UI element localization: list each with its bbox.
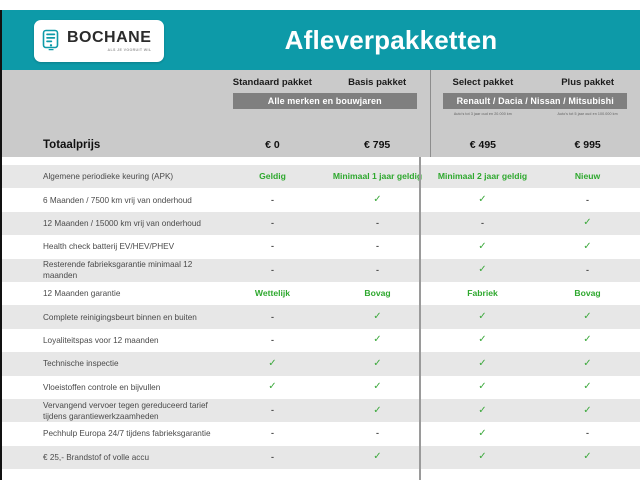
table-row: 6 Maanden / 7500 km vrij van onderhoud-✓… [2, 188, 640, 211]
row-group-all-brands: -- [220, 235, 430, 258]
cell-value: - [220, 429, 325, 438]
group-divider [419, 157, 421, 480]
cell-value: ✓ [325, 406, 430, 416]
cell-value: ✓ [325, 195, 430, 205]
cell-value: - [220, 196, 325, 205]
row-group-all-brands: -- [220, 212, 430, 235]
feature-table-body: Algemene periodieke keuring (APK)GeldigM… [0, 157, 640, 480]
feature-label-resterende-fabrieksgarantie-minimaal-12-maan: Resterende fabrieksgarantie minimaal 12 … [2, 259, 220, 281]
package-sub-plus: Auto's tot 5 jaar oud en 100.000 km [535, 112, 640, 116]
feature-rows: Algemene periodieke keuring (APK)GeldigM… [2, 165, 640, 469]
cell-value: - [325, 429, 430, 438]
feature-label-algemene-periodieke-keuring-apk: Algemene periodieke keuring (APK) [2, 171, 220, 182]
cell-value: ✓ [535, 452, 640, 462]
cell-value: Minimaal 1 jaar geldig [325, 172, 430, 181]
feature-label-25-brandstof-of-volle-accu: € 25,- Brandstof of volle accu [2, 452, 220, 463]
cell-value: ✓ [325, 452, 430, 462]
table-row: 12 Maanden garantieWettelijkBovagFabriek… [2, 282, 640, 305]
package-name-basis: Basis pakket [325, 77, 430, 88]
cell-value: ✓ [430, 312, 535, 322]
row-group-brands: -✓ [430, 212, 640, 235]
cell-value: Bovag [325, 289, 430, 298]
feature-label-loyaliteitspas-voor-12-maanden: Loyaliteitspas voor 12 maanden [2, 335, 220, 346]
row-group-brands: ✓- [430, 259, 640, 282]
table-row: Vloeistoffen controle en bijvullen✓✓✓✓ [2, 376, 640, 399]
total-group-brands: € 495 € 995 [430, 132, 640, 157]
row-group-all-brands: -- [220, 259, 430, 282]
cell-value: ✓ [535, 359, 640, 369]
cell-value: - [325, 266, 430, 275]
cell-value: ✓ [430, 335, 535, 345]
package-sub-select: Auto's tot 3 jaar oud en 20.000 km [431, 112, 536, 116]
row-group-brands: FabriekBovag [430, 282, 640, 305]
cell-value: - [430, 219, 535, 228]
cell-value: ✓ [220, 359, 325, 369]
cell-value: ✓ [535, 312, 640, 322]
row-group-all-brands: -✓ [220, 399, 430, 422]
cell-value: - [535, 429, 640, 438]
cell-value: ✓ [535, 242, 640, 252]
row-group-all-brands: ✓✓ [220, 352, 430, 375]
cell-value: ✓ [535, 335, 640, 345]
cell-value: - [220, 313, 325, 322]
table-row: Complete reinigingsbeurt binnen en buite… [2, 305, 640, 328]
cell-value: ✓ [430, 382, 535, 392]
total-price-row: Totaalprijs € 0 € 795 € 495 € 995 [0, 132, 640, 157]
cell-value: ✓ [325, 359, 430, 369]
total-price-basis: € 795 [325, 139, 430, 151]
feature-label-technische-inspectie: Technische inspectie [2, 358, 220, 369]
total-price-plus: € 995 [535, 139, 640, 151]
cell-value: Nieuw [535, 172, 640, 181]
cell-value: ✓ [430, 452, 535, 462]
cell-value: - [220, 336, 325, 345]
cell-value: - [220, 406, 325, 415]
row-group-brands: ✓✓ [430, 305, 640, 328]
row-group-brands: ✓✓ [430, 376, 640, 399]
cell-value: ✓ [535, 382, 640, 392]
package-name-select: Select pakket [431, 77, 536, 88]
package-header-band: Standaard pakket Basis pakket Alle merke… [0, 70, 640, 132]
row-group-brands: ✓✓ [430, 399, 640, 422]
cell-value: - [220, 453, 325, 462]
cell-value: ✓ [430, 359, 535, 369]
cell-value: - [535, 266, 640, 275]
afleverpakketten-page: BOCHANE ALS JE VOORUIT WIL Afleverpakket… [0, 0, 640, 480]
total-price-select: € 495 [431, 139, 536, 151]
cell-value: Geldig [220, 172, 325, 181]
table-row: Technische inspectie✓✓✓✓ [2, 352, 640, 375]
cell-value: ✓ [430, 242, 535, 252]
cell-value: ✓ [430, 429, 535, 439]
cell-value: ✓ [325, 335, 430, 345]
cell-value: ✓ [220, 382, 325, 392]
page-title: Afleverpakketten [2, 25, 640, 56]
cell-value: - [325, 242, 430, 251]
cell-value: ✓ [535, 218, 640, 228]
cell-value: - [220, 266, 325, 275]
row-group-brands: ✓✓ [430, 446, 640, 469]
cell-value: - [220, 219, 325, 228]
row-group-brands: ✓✓ [430, 352, 640, 375]
row-group-all-brands: GeldigMinimaal 1 jaar geldig [220, 165, 430, 188]
cell-value: ✓ [325, 312, 430, 322]
cell-value: ✓ [430, 406, 535, 416]
cell-value: Minimaal 2 jaar geldig [430, 172, 535, 181]
table-row: 12 Maanden / 15000 km vrij van onderhoud… [2, 212, 640, 235]
row-group-all-brands: -✓ [220, 305, 430, 328]
feature-label-pechhulp-europa-24-7-tijdens-fabrieksgaranti: Pechhulp Europa 24/7 tijdens fabrieksgar… [2, 428, 220, 439]
cell-value: Wettelijk [220, 289, 325, 298]
top-white-strip [0, 0, 640, 10]
table-row: € 25,- Brandstof of volle accu-✓✓✓ [2, 446, 640, 469]
row-group-all-brands: ✓✓ [220, 376, 430, 399]
feature-label-12-maanden-15000-km-vrij-van-onderhoud: 12 Maanden / 15000 km vrij van onderhoud [2, 218, 220, 229]
group-scope-bar-all-brands: Alle merken en bouwjaren [233, 93, 417, 109]
row-group-all-brands: -✓ [220, 329, 430, 352]
cell-value: Bovag [535, 289, 640, 298]
table-row: Algemene periodieke keuring (APK)GeldigM… [2, 165, 640, 188]
cell-value: ✓ [430, 265, 535, 275]
cell-value: - [220, 242, 325, 251]
cell-value: ✓ [325, 382, 430, 392]
row-group-brands: ✓- [430, 188, 640, 211]
table-row: Loyaliteitspas voor 12 maanden-✓✓✓ [2, 329, 640, 352]
package-name-plus: Plus pakket [535, 77, 640, 88]
package-group-renault-dacia-nissan-mitsubishi: Select pakket Plus pakket Renault / Daci… [430, 70, 640, 132]
package-group-all-brands: Standaard pakket Basis pakket Alle merke… [220, 70, 430, 132]
row-group-all-brands: WettelijkBovag [220, 282, 430, 305]
row-group-all-brands: -- [220, 422, 430, 445]
total-price-label: Totaalprijs [2, 139, 220, 151]
row-group-brands: ✓✓ [430, 235, 640, 258]
table-row: Health check batterij EV/HEV/PHEV--✓✓ [2, 235, 640, 258]
table-row: Pechhulp Europa 24/7 tijdens fabrieksgar… [2, 422, 640, 445]
total-price-standaard: € 0 [220, 139, 325, 151]
feature-label-vloeistoffen-controle-en-bijvullen: Vloeistoffen controle en bijvullen [2, 382, 220, 393]
cell-value: ✓ [430, 195, 535, 205]
row-group-all-brands: -✓ [220, 446, 430, 469]
cell-value: Fabriek [430, 289, 535, 298]
row-group-brands: ✓- [430, 422, 640, 445]
feature-label-vervangend-vervoer-tegen-gereduceerd-tarief-: Vervangend vervoer tegen gereduceerd tar… [2, 400, 220, 422]
table-row: Vervangend vervoer tegen gereduceerd tar… [2, 399, 640, 422]
cell-value: - [535, 196, 640, 205]
row-group-all-brands: -✓ [220, 188, 430, 211]
feature-label-complete-reinigingsbeurt-binnen-en-buiten: Complete reinigingsbeurt binnen en buite… [2, 312, 220, 323]
total-group-all-brands: € 0 € 795 [220, 132, 430, 157]
cell-value: ✓ [535, 406, 640, 416]
row-group-brands: ✓✓ [430, 329, 640, 352]
group-scope-bar-brands: Renault / Dacia / Nissan / Mitsubishi [443, 93, 627, 109]
band-spacer [2, 70, 220, 132]
row-group-brands: Minimaal 2 jaar geldigNieuw [430, 165, 640, 188]
feature-label-12-maanden-garantie: 12 Maanden garantie [2, 288, 220, 299]
cell-value: - [325, 219, 430, 228]
package-name-standaard: Standaard pakket [220, 77, 325, 88]
page-header: BOCHANE ALS JE VOORUIT WIL Afleverpakket… [0, 10, 640, 70]
table-row: Resterende fabrieksgarantie minimaal 12 … [2, 259, 640, 282]
feature-label-health-check-batterij-ev-hev-phev: Health check batterij EV/HEV/PHEV [2, 241, 220, 252]
feature-label-6-maanden-7500-km-vrij-van-onderhoud: 6 Maanden / 7500 km vrij van onderhoud [2, 195, 220, 206]
